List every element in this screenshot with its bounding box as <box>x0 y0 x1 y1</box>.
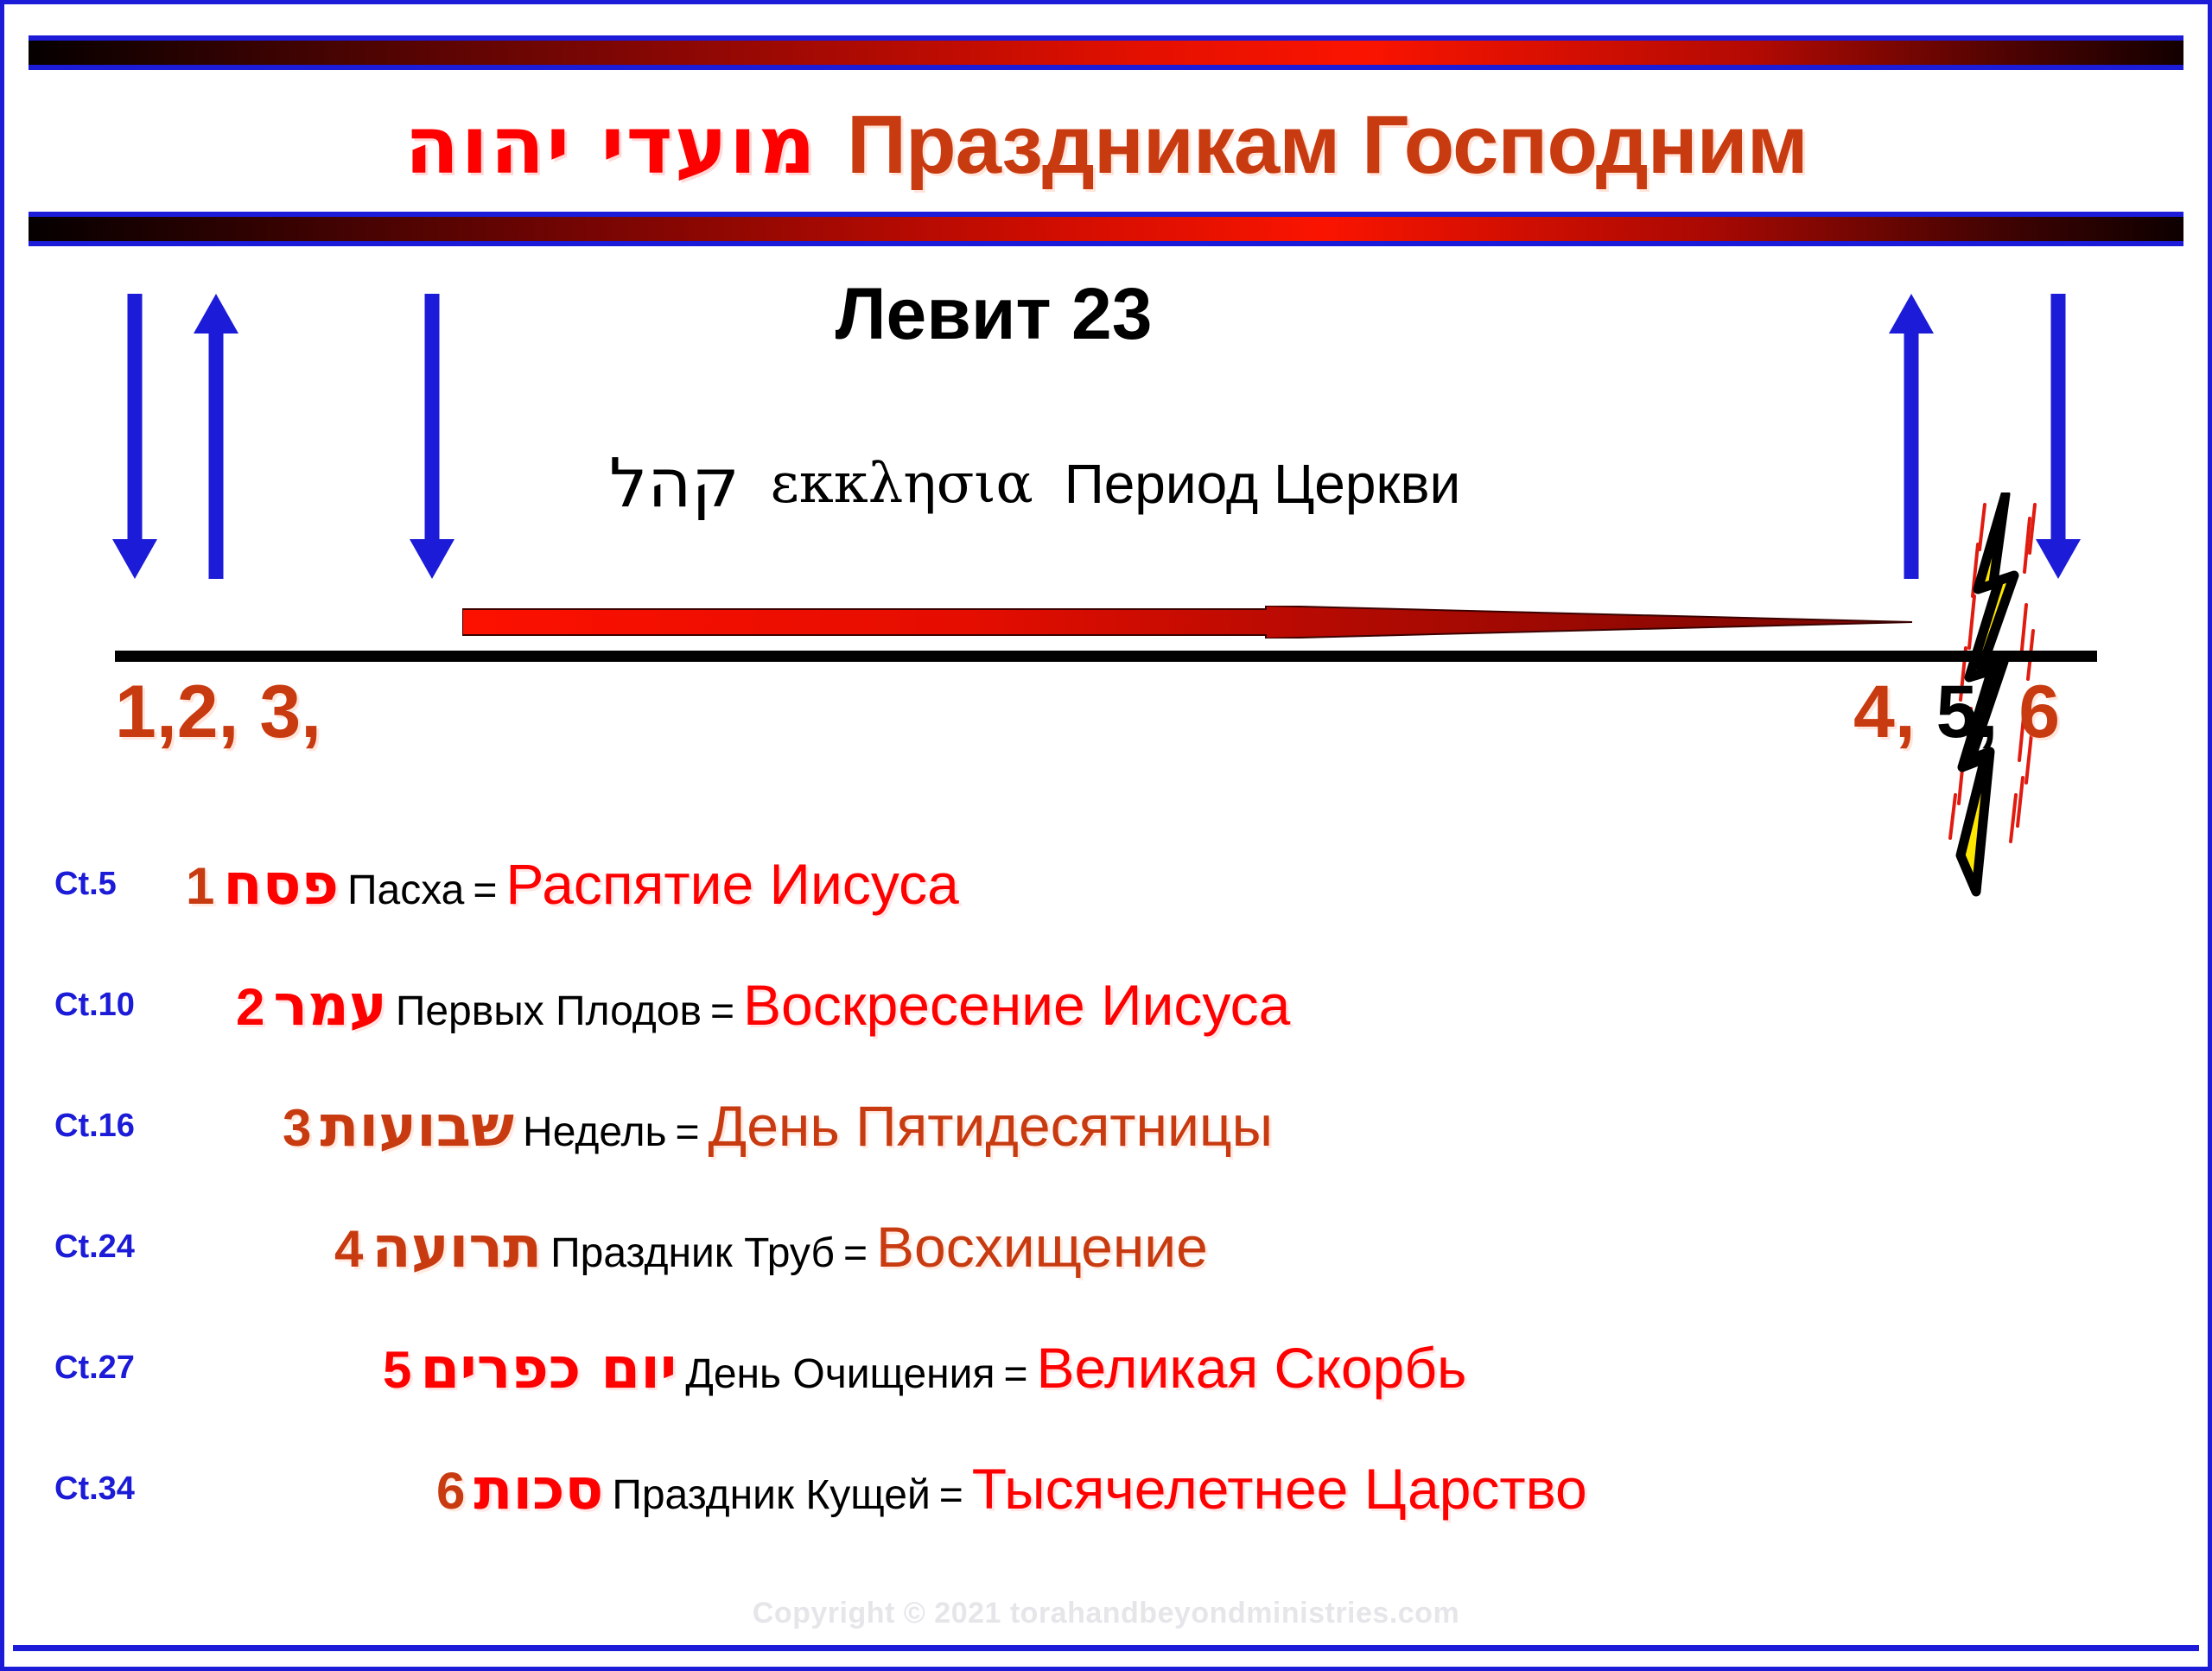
chapter-ref: Ct.5 <box>54 866 117 903</box>
festival-index: 4 <box>334 1219 363 1279</box>
arrow-head <box>1889 294 1934 334</box>
arrow-shaft <box>1904 328 1919 579</box>
festival-hebrew: יום כפרים <box>420 1335 677 1401</box>
chapter-ref: Ct.10 <box>54 987 135 1024</box>
copyright-text: Copyright © 2021 torahandbeyondministrie… <box>4 1597 2208 1630</box>
festival-russian-name: Праздник Труб <box>550 1229 835 1277</box>
festival-hebrew: עמר <box>273 972 386 1039</box>
festival-row: Ct.16 3 שבועות Недель = День Пятидесятни… <box>4 1065 2208 1186</box>
arrow-down-2 <box>421 294 443 579</box>
chapter-ref: Ct.27 <box>54 1350 135 1387</box>
festival-row: Ct.34 6 סכות Праздник Кущей = Тысячелетн… <box>4 1428 2208 1549</box>
timeline-baseline <box>115 651 2097 662</box>
festival-list: Ct.5 1 פסח Пасха = Распятие Иисуса Ct.10… <box>4 823 2208 1615</box>
festival-hebrew: פסח <box>223 851 339 918</box>
arrow-head <box>194 294 238 334</box>
equals-sign: = <box>939 1471 963 1519</box>
festival-row: Ct.27 5 יום כפרים День Очищения = Велика… <box>4 1307 2208 1428</box>
festival-row-body: 5 יום כפרים День Очищения = Великая Скор… <box>383 1335 1466 1401</box>
arrow-down-1 <box>124 294 146 579</box>
festival-hebrew: שבועות <box>320 1093 514 1160</box>
festival-row-body: 1 פסח Пасха = Распятие Иисуса <box>186 851 959 918</box>
festival-row: Ct.10 2 עמר Первых Плодов = Воскресение … <box>4 944 2208 1065</box>
festival-index: 3 <box>283 1098 311 1158</box>
scripture-title: Левит 23 <box>4 272 2208 356</box>
header-title-row: מועדי יהוה Праздникам Господним <box>4 80 2208 210</box>
church-period-label: Период Церкви <box>1065 452 1461 516</box>
festival-index: 2 <box>236 977 264 1037</box>
festival-russian-name: Пасха <box>347 867 464 914</box>
arrow-up-2 <box>1900 294 1923 579</box>
arrow-up-1 <box>205 294 227 579</box>
footer-rule <box>13 1645 2199 1651</box>
festival-hebrew: סכות <box>474 1456 603 1522</box>
timeline-area: Левит 23 <box>4 264 2208 799</box>
festival-hebrew: תרועה <box>372 1214 542 1280</box>
top-gradient-band <box>29 35 2183 70</box>
hebrew-title: מועדי יהוה <box>404 99 817 192</box>
festival-row-body: 6 סכות Праздник Кущей = Тысячелетнее Цар… <box>436 1456 1587 1522</box>
arrow-head <box>410 539 454 579</box>
festival-russian-name: Первых Плодов <box>396 988 702 1035</box>
russian-title: Праздникам Господним <box>847 98 1808 193</box>
festival-fulfillment: Воскресение Иисуса <box>743 972 1290 1038</box>
arrow-shaft <box>425 294 440 544</box>
marker-numbers-left: 1,2, 3, <box>115 670 321 755</box>
festival-index: 5 <box>383 1340 411 1400</box>
festival-fulfillment: Распятие Иисуса <box>505 851 958 917</box>
marker-5: 5, <box>1936 670 1999 753</box>
festival-fulfillment: Тысячелетнее Царство <box>972 1456 1587 1522</box>
equals-sign: = <box>675 1109 699 1156</box>
equals-sign: = <box>710 988 734 1035</box>
arrow-head <box>112 539 157 579</box>
church-age-arrow <box>462 606 1912 639</box>
festival-row-body: 2 עמר Первых Плодов = Воскресение Иисуса <box>236 972 1290 1039</box>
bottom-gradient-band <box>29 212 2183 246</box>
festival-row: Ct.5 1 פסח Пасха = Распятие Иисуса <box>4 823 2208 944</box>
festival-fulfillment: День Пятидесятницы <box>709 1093 1274 1159</box>
marker-numbers-right: 4, 5, 6 <box>1853 670 2060 755</box>
arrow-shaft <box>209 328 224 579</box>
chapter-ref: Ct.34 <box>54 1471 135 1508</box>
marker-6: 6 <box>2018 670 2060 753</box>
festival-fulfillment: Восхищение <box>876 1214 1208 1280</box>
festival-row-body: 4 תרועה Праздник Труб = Восхищение <box>334 1214 1208 1280</box>
hebrew-kahal: קהל <box>609 445 740 523</box>
festival-index: 1 <box>186 856 214 916</box>
equals-sign: = <box>843 1229 868 1277</box>
equals-sign: = <box>473 867 497 914</box>
equals-sign: = <box>1003 1350 1027 1398</box>
festival-row-body: 3 שבועות Недель = День Пятидесятницы <box>283 1093 1273 1160</box>
chapter-ref: Ct.16 <box>54 1108 135 1145</box>
arrow-shaft <box>128 294 143 544</box>
festival-row: Ct.24 4 תרועה Праздник Труб = Восхищение <box>4 1186 2208 1307</box>
marker-4: 4, <box>1853 670 1916 753</box>
chapter-ref: Ct.24 <box>54 1229 135 1266</box>
festival-index: 6 <box>436 1461 465 1521</box>
slide-root: מועדי יהוה Праздникам Господним Левит 23 <box>0 0 2212 1671</box>
festival-fulfillment: Великая Скорбь <box>1037 1335 1467 1401</box>
festival-russian-name: Праздник Кущей <box>612 1471 930 1519</box>
festival-russian-name: Недель <box>523 1109 666 1156</box>
church-age-labels: קהל εκκλησια Период Церкви <box>609 445 1460 523</box>
festival-russian-name: День Очищения <box>685 1350 995 1398</box>
greek-ekklesia: εκκλησια <box>771 452 1033 516</box>
